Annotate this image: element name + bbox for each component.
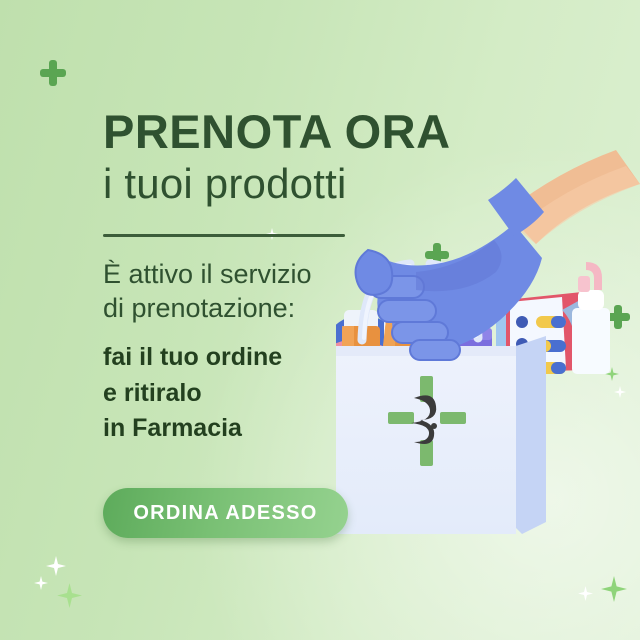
promo-banner: PRENOTA ORA i tuoi prodotti È attivo il … [0, 0, 640, 640]
order-now-button[interactable]: ORDINA ADESSO [103, 488, 348, 538]
bag-side-panel [516, 336, 546, 534]
bold-line-1: fai il tuo ordine [103, 340, 423, 376]
bold-paragraph: fai il tuo ordine e ritiralo in Farmacia [103, 340, 423, 447]
sparkle-icon [601, 576, 627, 602]
lead-line-1: È attivo il servizio [103, 258, 403, 292]
sparkle-icon [578, 586, 593, 601]
bold-line-3: in Farmacia [103, 411, 423, 447]
lead-line-2: di prenotazione: [103, 292, 403, 326]
headline-primary: PRENOTA ORA [103, 108, 503, 155]
divider-rule [103, 234, 345, 237]
item-pump-dispenser [572, 308, 610, 374]
headline-secondary: i tuoi prodotti [103, 163, 503, 205]
bold-line-2: e ritiralo [103, 376, 423, 412]
lead-paragraph: È attivo il servizio di prenotazione: [103, 258, 403, 326]
text-column: PRENOTA ORA i tuoi prodotti È attivo il … [0, 0, 380, 640]
